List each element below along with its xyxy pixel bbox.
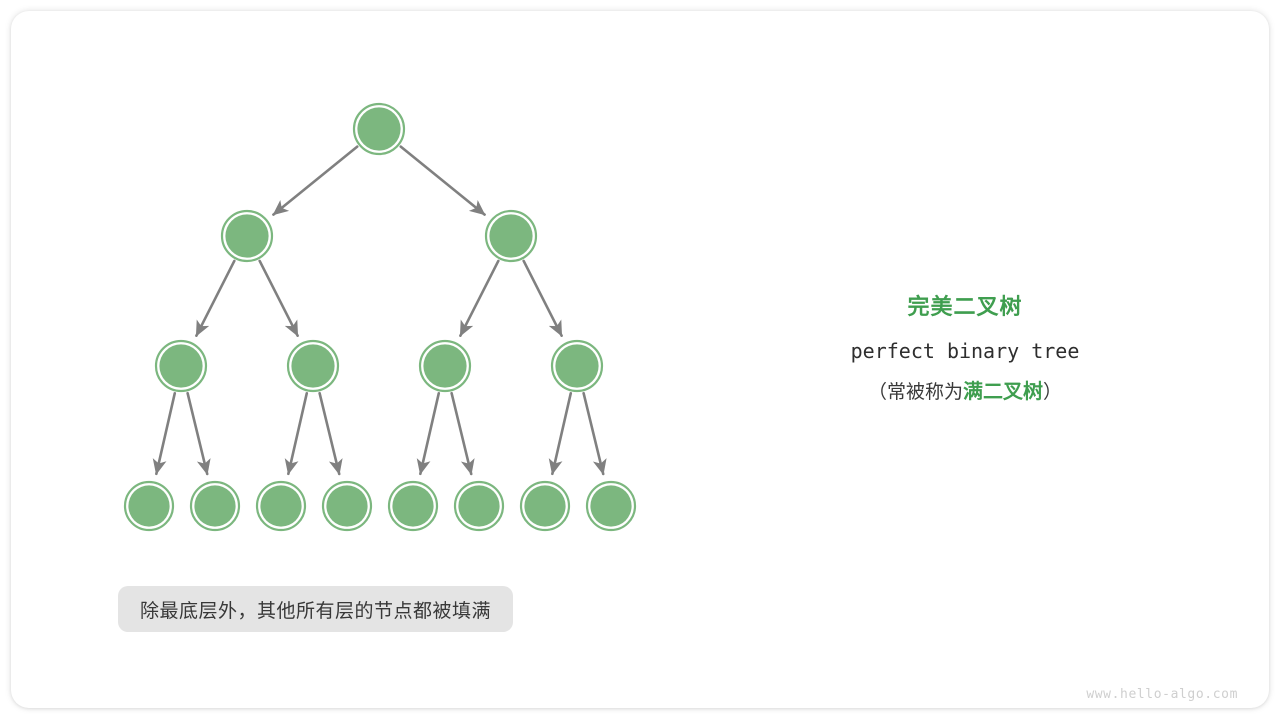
watermark: www.hello-algo.com: [1086, 687, 1238, 702]
tree-node: [354, 104, 404, 154]
tree-edge: [460, 261, 498, 336]
tree-edge: [196, 261, 234, 336]
tree-node: [222, 211, 272, 261]
tree-node-fill: [291, 344, 334, 387]
tree-node-fill: [357, 107, 400, 150]
tree-edges: [156, 147, 603, 474]
tree-node-fill: [260, 485, 301, 526]
caption-text: 除最底层外，其他所有层的节点都被填满: [140, 596, 491, 623]
tree-node: [420, 341, 470, 391]
tree-edge: [156, 393, 174, 474]
tree-edge: [452, 393, 472, 474]
tree-node: [521, 482, 569, 530]
diagram-canvas: 完美二叉树 perfect binary tree （常被称为满二叉树） 除最底…: [0, 0, 1280, 720]
tree-node: [587, 482, 635, 530]
tree-nodes: [125, 104, 635, 530]
tree-edge: [401, 147, 485, 215]
tree-edge: [260, 261, 298, 336]
tree-node-fill: [128, 485, 169, 526]
legend-alias: （常被称为满二叉树）: [790, 378, 1140, 407]
tree-node-fill: [555, 344, 598, 387]
tree-edge: [552, 393, 570, 474]
legend-block: 完美二叉树 perfect binary tree （常被称为满二叉树）: [790, 292, 1140, 407]
tree-edge: [524, 261, 562, 336]
tree-node: [288, 341, 338, 391]
tree-edge: [288, 393, 306, 474]
tree-edge: [320, 393, 340, 474]
tree-edge: [420, 393, 438, 474]
tree-node: [257, 482, 305, 530]
caption-pill: 除最底层外，其他所有层的节点都被填满: [118, 586, 513, 632]
legend-alias-suffix: ）: [1043, 382, 1062, 403]
tree-node-fill: [489, 214, 532, 257]
tree-node: [191, 482, 239, 530]
tree-edge: [273, 147, 357, 215]
tree-node-fill: [590, 485, 631, 526]
tree-node-fill: [524, 485, 565, 526]
legend-alias-prefix: （常被称为: [868, 382, 963, 403]
tree-node: [125, 482, 173, 530]
tree-node: [552, 341, 602, 391]
tree-node: [455, 482, 503, 530]
tree-node-fill: [159, 344, 202, 387]
legend-title-en: perfect binary tree: [790, 337, 1140, 365]
tree-node: [486, 211, 536, 261]
tree-node-fill: [225, 214, 268, 257]
tree-edge: [188, 393, 208, 474]
tree-edge: [584, 393, 604, 474]
tree-node: [323, 482, 371, 530]
tree-node-fill: [458, 485, 499, 526]
tree-node-fill: [326, 485, 367, 526]
tree-node-fill: [423, 344, 466, 387]
tree-node-fill: [392, 485, 433, 526]
tree-node-fill: [194, 485, 235, 526]
legend-alias-accent: 满二叉树: [963, 381, 1043, 403]
tree-node: [389, 482, 437, 530]
legend-title-zh: 完美二叉树: [790, 292, 1140, 322]
tree-node: [156, 341, 206, 391]
